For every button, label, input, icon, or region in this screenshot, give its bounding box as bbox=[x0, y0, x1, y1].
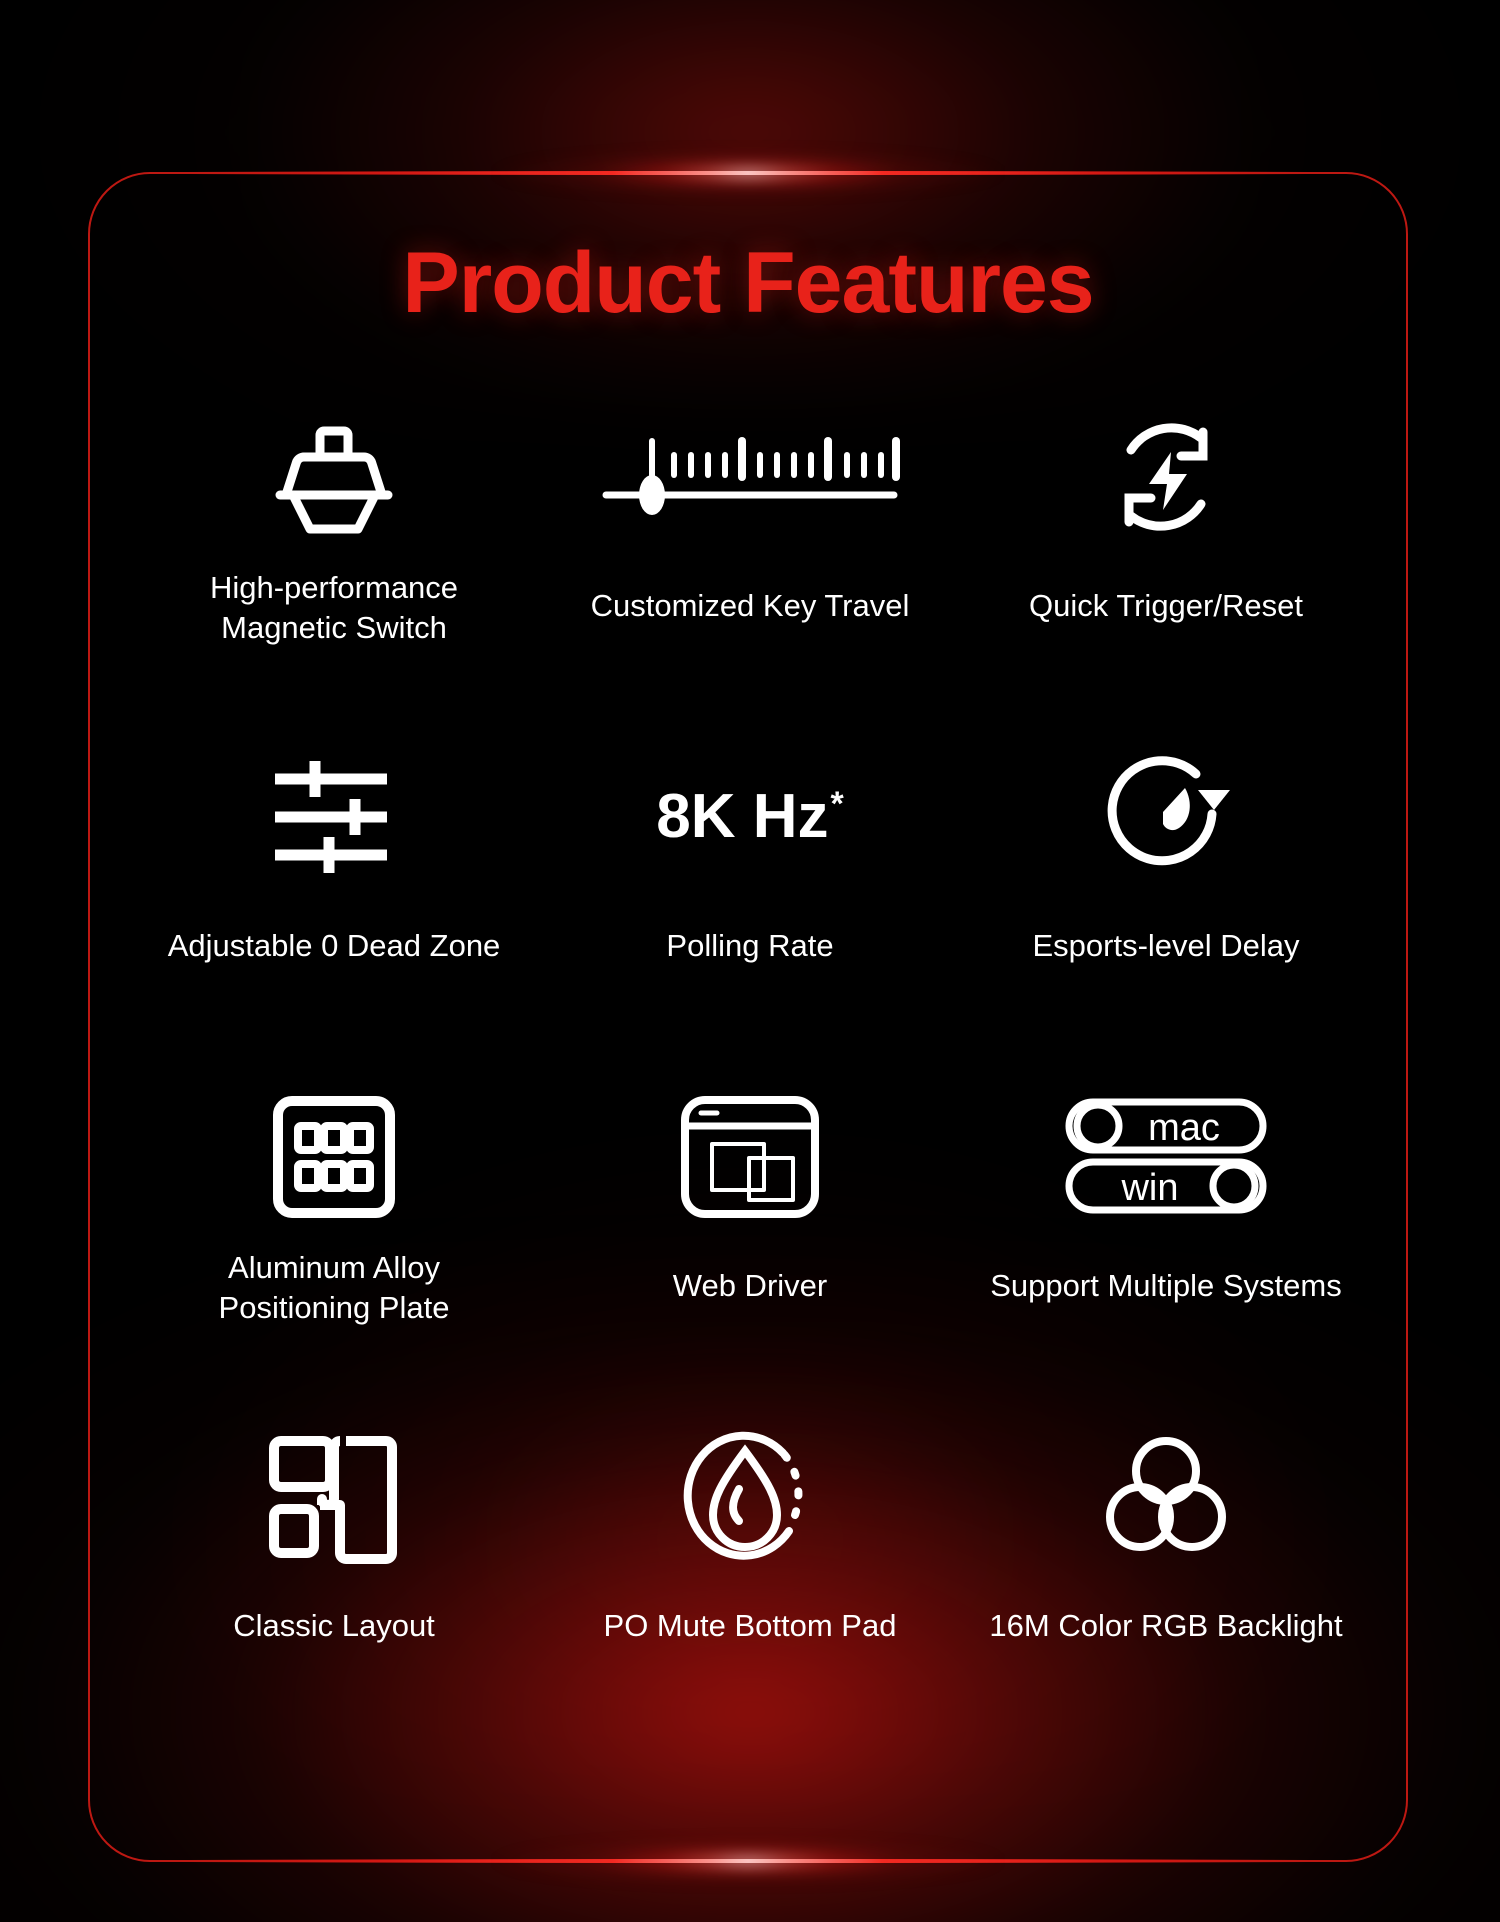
feature-item-dead-zone: Adjustable 0 Dead Zone bbox=[126, 742, 542, 1082]
os-toggles-icon: mac win bbox=[1064, 1082, 1268, 1232]
feature-item-web-driver: Web Driver bbox=[542, 1082, 958, 1422]
bottom-border-glow bbox=[188, 1859, 1308, 1863]
toggle-label-mac: mac bbox=[1148, 1107, 1220, 1149]
feature-caption: Quick Trigger/Reset bbox=[1029, 586, 1303, 626]
feature-item-positioning-plate: Aluminum Alloy Positioning Plate bbox=[126, 1082, 542, 1422]
feature-item-multiple-systems: mac win Support Multiple Systems bbox=[958, 1082, 1374, 1422]
polling-rate-number: 8K Hz bbox=[656, 782, 828, 851]
browser-window-icon bbox=[679, 1082, 821, 1232]
toggle-label-win: win bbox=[1120, 1167, 1178, 1209]
page-title: Product Features bbox=[90, 234, 1406, 333]
rgb-circles-icon bbox=[1100, 1422, 1232, 1572]
feature-item-quick-trigger: Quick Trigger/Reset bbox=[958, 402, 1374, 742]
feature-item-classic-layout: Classic Layout bbox=[126, 1422, 542, 1762]
feature-item-magnetic-switch: High-performance Magnetic Switch bbox=[126, 402, 542, 742]
features-grid: High-performance Magnetic Switch bbox=[126, 402, 1374, 1762]
key-travel-ruler-icon bbox=[600, 402, 900, 552]
feature-caption: 16M Color RGB Backlight bbox=[989, 1606, 1342, 1646]
top-border-glow bbox=[188, 171, 1308, 175]
feature-caption: Classic Layout bbox=[233, 1606, 435, 1646]
feature-caption: Aluminum Alloy Positioning Plate bbox=[219, 1248, 450, 1327]
water-droplet-icon bbox=[687, 1422, 813, 1572]
product-features-page: Product Features High-performance Magnet… bbox=[0, 0, 1500, 1922]
feature-panel: Product Features High-performance Magnet… bbox=[88, 172, 1408, 1862]
feature-caption: Esports-level Delay bbox=[1032, 926, 1299, 966]
feature-item-polling-rate: 8K Hz* Polling Rate bbox=[542, 742, 958, 1082]
feature-caption: Adjustable 0 Dead Zone bbox=[168, 926, 501, 966]
feature-caption: Web Driver bbox=[673, 1266, 827, 1306]
magnetic-switch-icon bbox=[264, 402, 404, 552]
polling-rate-value: 8K Hz* bbox=[656, 742, 844, 892]
feature-item-key-travel: Customized Key Travel bbox=[542, 402, 958, 742]
feature-item-esports-delay: Esports-level Delay bbox=[958, 742, 1374, 1082]
feature-caption: High-performance Magnetic Switch bbox=[210, 568, 458, 647]
sliders-icon bbox=[269, 742, 399, 892]
feature-item-mute-pad: PO Mute Bottom Pad bbox=[542, 1422, 958, 1762]
speed-gauge-icon bbox=[1101, 742, 1231, 892]
feature-caption: Customized Key Travel bbox=[591, 586, 910, 626]
feature-caption: PO Mute Bottom Pad bbox=[604, 1606, 897, 1646]
feature-caption: Polling Rate bbox=[666, 926, 833, 966]
keyboard-plate-icon bbox=[269, 1082, 399, 1232]
feature-caption: Support Multiple Systems bbox=[990, 1266, 1341, 1306]
quick-trigger-reset-icon bbox=[1101, 402, 1231, 552]
feature-item-rgb-backlight: 16M Color RGB Backlight bbox=[958, 1422, 1374, 1762]
polling-rate-asterisk: * bbox=[831, 785, 844, 823]
layout-blocks-icon bbox=[266, 1422, 402, 1572]
